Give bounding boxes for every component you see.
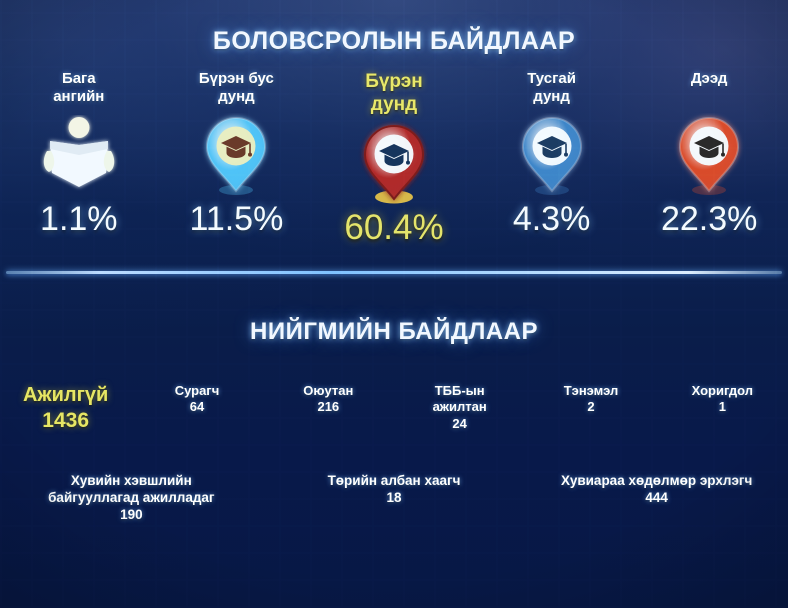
social-stat-value: 1436 bbox=[0, 408, 131, 434]
presentation-slide: БОЛОВСРОЛЫН БАЙДЛААР Багаангийн1.1%Бүрэн… bbox=[0, 0, 788, 608]
map-pin-graduation-cap-icon-svg bbox=[196, 113, 276, 197]
person-reading-book-icon-svg bbox=[40, 115, 118, 195]
social-stat-label: Төрийн албан хаагч bbox=[263, 473, 526, 490]
social-stat-item: Хоригдол1 bbox=[657, 383, 788, 434]
education-stat-label: Дээд bbox=[691, 70, 728, 108]
social-stat-label: Сурагч bbox=[131, 383, 262, 399]
education-stat-item: Дээд22.3% bbox=[630, 70, 788, 239]
education-stat-label: Тусгайдунд bbox=[527, 70, 576, 108]
social-stats-row-primary: Ажилгүй1436Сурагч64Оюутан216ТББ-ынажилта… bbox=[0, 383, 788, 434]
social-stat-label: Хоригдол bbox=[657, 383, 788, 399]
social-stat-label: Тэнэмэл bbox=[525, 383, 656, 399]
education-stat-value: 11.5% bbox=[189, 200, 283, 239]
map-pin-graduation-cap-icon-svg bbox=[669, 113, 749, 197]
education-stat-value: 4.3% bbox=[513, 200, 591, 239]
education-stat-label: Бүрэн бусдунд bbox=[199, 70, 274, 108]
map-pin-graduation-cap-icon bbox=[512, 114, 592, 196]
social-stat-value: 1 bbox=[657, 399, 788, 415]
social-stat-value: 24 bbox=[394, 416, 525, 432]
education-stat-label: Багаангийн bbox=[53, 70, 104, 108]
social-stat-value: 216 bbox=[263, 399, 394, 415]
social-stat-label: ТББ-ынажилтан bbox=[394, 383, 525, 416]
social-stat-label: Хувиараа хөдөлмөр эрхлэгч bbox=[525, 473, 788, 490]
social-stat-item: Төрийн албан хаагч18 bbox=[263, 473, 526, 524]
education-stats-row: Багаангийн1.1%Бүрэн бусдунд11.5%Бүрэндун… bbox=[0, 70, 788, 265]
social-stat-item: ТББ-ынажилтан24 bbox=[394, 383, 525, 434]
social-stat-label: Хувийн хэвшлийнбайгууллагад ажилладаг bbox=[0, 473, 263, 507]
social-stat-value: 190 bbox=[0, 507, 263, 524]
social-stat-label: Оюутан bbox=[263, 383, 394, 399]
social-stat-value: 444 bbox=[525, 490, 788, 507]
education-stat-item: Бүрэндунд60.4% bbox=[315, 70, 473, 248]
education-stat-label: Бүрэндунд bbox=[365, 70, 423, 116]
education-section-title: БОЛОВСРОЛЫН БАЙДЛААР bbox=[0, 27, 788, 56]
social-stat-label: Ажилгүй bbox=[0, 383, 131, 408]
social-stat-value: 18 bbox=[263, 490, 526, 507]
education-stat-value: 1.1% bbox=[40, 200, 118, 239]
education-stat-item: Тусгайдунд4.3% bbox=[473, 70, 631, 239]
social-stat-item: Хувийн хэвшлийнбайгууллагад ажилладаг190 bbox=[0, 473, 263, 524]
social-stats-row-secondary: Хувийн хэвшлийнбайгууллагад ажилладаг190… bbox=[0, 473, 788, 524]
social-stat-item: Сурагч64 bbox=[131, 383, 262, 434]
map-pin-graduation-cap-icon bbox=[196, 114, 276, 196]
social-stat-item: Хувиараа хөдөлмөр эрхлэгч444 bbox=[525, 473, 788, 524]
education-stat-item: Бүрэн бусдунд11.5% bbox=[158, 70, 316, 239]
section-divider bbox=[6, 271, 782, 274]
person-reading-book-icon bbox=[40, 114, 118, 196]
education-stat-value: 22.3% bbox=[661, 200, 757, 239]
education-stat-value: 60.4% bbox=[344, 208, 443, 248]
map-pin-graduation-cap-icon bbox=[354, 122, 434, 204]
social-stat-value: 64 bbox=[131, 399, 262, 415]
social-section-title: НИЙГМИЙН БАЙДЛААР bbox=[0, 318, 788, 346]
social-stat-item: Оюутан216 bbox=[263, 383, 394, 434]
map-pin-graduation-cap-icon-svg bbox=[354, 121, 434, 205]
social-stat-item: Ажилгүй1436 bbox=[0, 383, 131, 434]
map-pin-graduation-cap-icon bbox=[669, 114, 749, 196]
social-stat-item: Тэнэмэл2 bbox=[525, 383, 656, 434]
social-stat-value: 2 bbox=[525, 399, 656, 415]
map-pin-graduation-cap-icon-svg bbox=[512, 113, 592, 197]
education-stat-item: Багаангийн1.1% bbox=[0, 70, 158, 239]
